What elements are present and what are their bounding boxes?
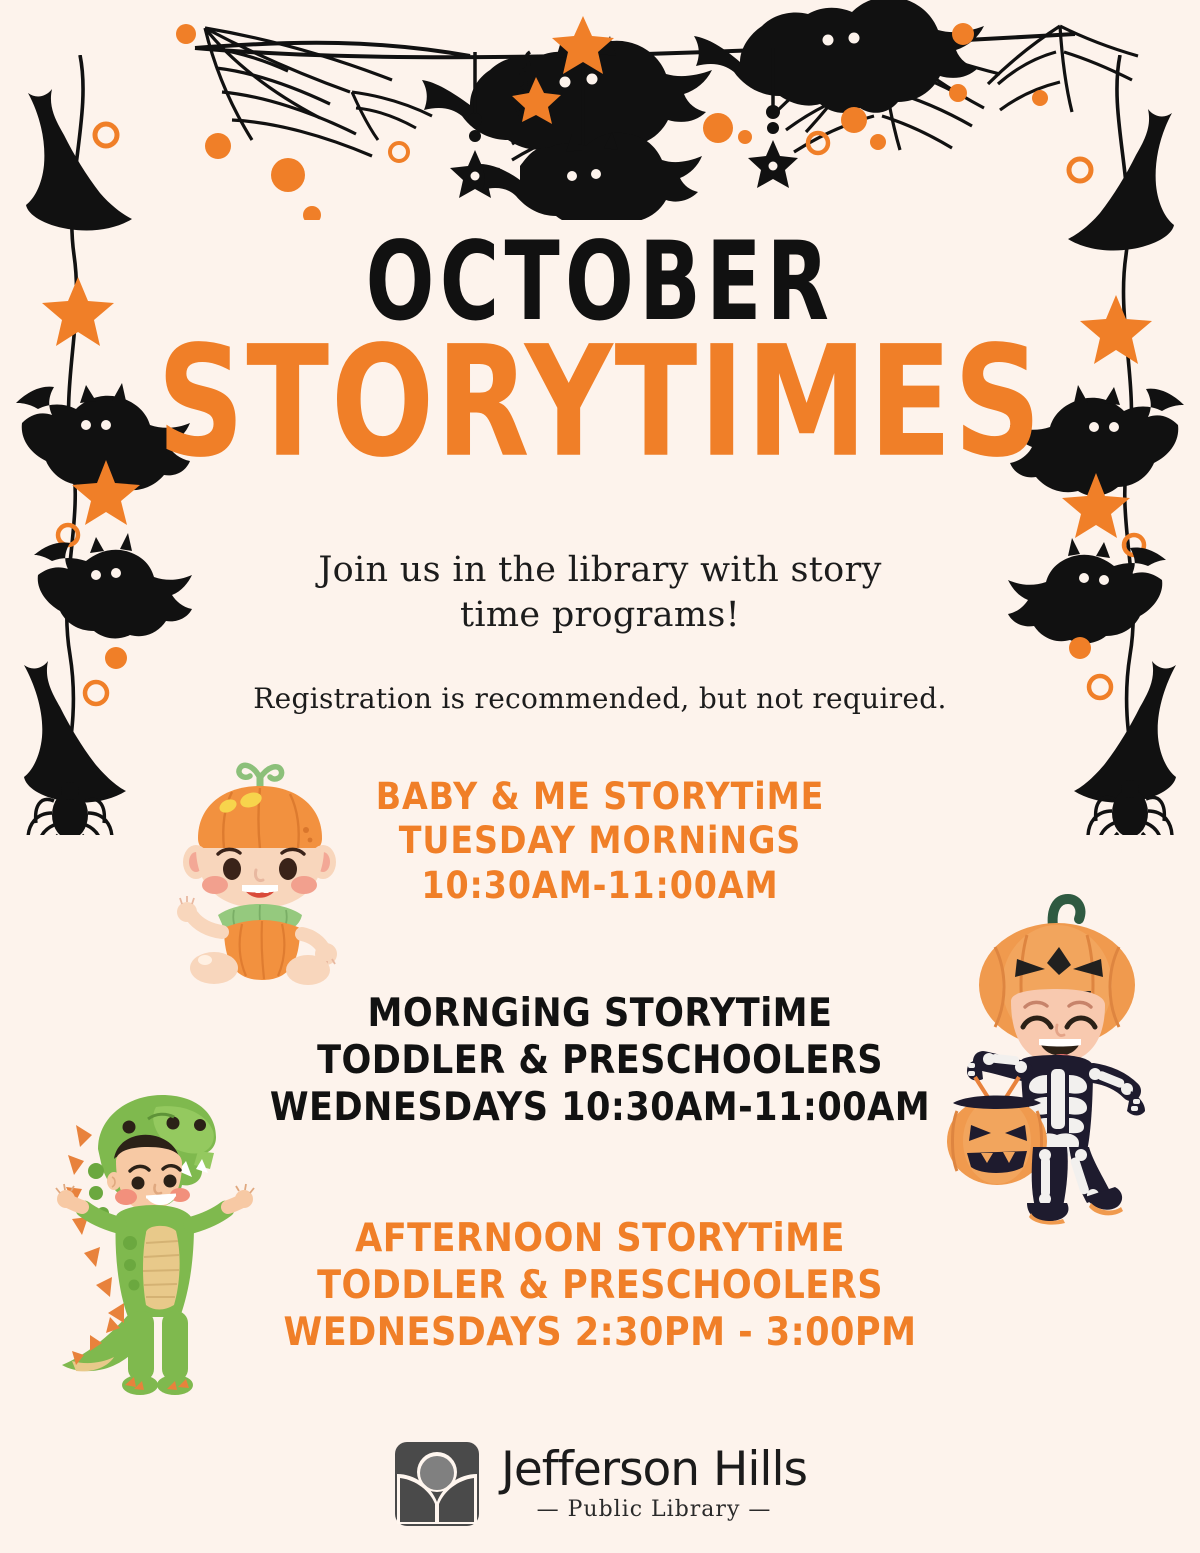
intro-line-2: time programs! [0, 593, 1200, 638]
halloween-storytime-poster: OCTOBER STORYTIMES Join us in the librar… [0, 0, 1200, 1553]
spiral-star-decoration [512, 52, 561, 124]
orange-dot [205, 133, 231, 159]
orange-dot [303, 206, 321, 220]
top-garland-banner-decoration [0, 0, 1200, 220]
headline-title: STORYTIMES [48, 326, 1152, 479]
bat-icon [694, 0, 984, 113]
witch-hat-icon [26, 89, 132, 231]
library-name: Jefferson Hills [501, 1446, 807, 1493]
hanging-bat-decoration [552, 16, 614, 148]
intro-paragraph: Join us in the library with story time p… [0, 548, 1200, 638]
orange-dot [176, 24, 196, 44]
boy-in-dinosaur-costume-illustration [50, 1085, 275, 1405]
spiderweb-icon [776, 36, 1000, 152]
orange-dot [105, 647, 127, 669]
orange-ring [58, 525, 78, 545]
child-in-skeleton-costume-illustration [935, 885, 1175, 1225]
bat-icon [480, 132, 702, 220]
hanging-star-decoration [748, 48, 798, 188]
orange-dot [1032, 90, 1048, 106]
baby-in-pumpkin-costume-illustration [160, 752, 365, 987]
orange-dot [952, 23, 974, 45]
library-logo-footer: Jefferson Hills — Public Library — [0, 1440, 1200, 1528]
orange-ring [808, 133, 828, 153]
orange-star-icon [1062, 473, 1130, 538]
library-logo-icon [393, 1440, 481, 1528]
orange-dot [703, 113, 733, 143]
poster-headline: OCTOBER STORYTIMES [0, 228, 1200, 458]
orange-dot [841, 107, 867, 133]
orange-ring [95, 124, 117, 146]
bat-icon [422, 36, 712, 157]
spiderweb-icon [205, 28, 392, 156]
orange-dot [870, 134, 886, 150]
library-subtitle: — Public Library — [537, 1497, 772, 1522]
spiderweb-icon [506, 62, 620, 160]
library-logo-text: Jefferson Hills — Public Library — [501, 1446, 807, 1522]
orange-ring [1069, 159, 1091, 181]
orange-dot [271, 158, 305, 192]
hanging-star-decoration [450, 52, 500, 198]
orange-ring [390, 143, 408, 161]
spiderweb-icon [988, 26, 1138, 112]
registration-note: Registration is recommended, but not req… [0, 682, 1200, 715]
orange-dot [1069, 637, 1091, 659]
intro-line-1: Join us in the library with story [0, 548, 1200, 593]
orange-dot [738, 130, 752, 144]
orange-dot [949, 84, 967, 102]
